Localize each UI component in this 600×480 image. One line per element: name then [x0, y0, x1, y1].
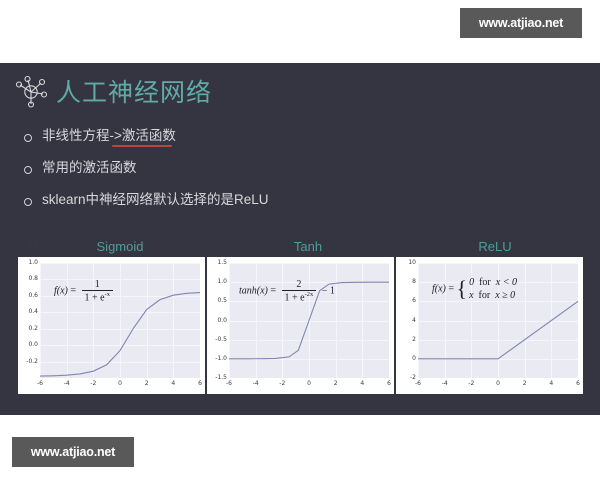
xtick: 2 [334, 381, 338, 387]
slide-body: 人工神经网络 非线性方程->激活函数 常用的激活函数 sklearn中神经网络默… [0, 63, 600, 415]
chart-title-relu: ReLU [435, 240, 555, 253]
ytick: 1.5 [217, 260, 227, 266]
ytick: 2 [412, 337, 416, 343]
ytick: 6 [412, 298, 416, 304]
chart-panel-sigmoid: -0.2 0.0 0.2 0.4 0.6 0.8 1.0 1.2 -6 -4 -… [18, 257, 205, 394]
watermark-top: www.atjiao.net [460, 8, 582, 38]
slide-title-row: 人工神经网络 [14, 74, 212, 113]
ytick: 1.0 [28, 260, 38, 266]
chart-title-tanh: Tanh [248, 240, 368, 253]
ytick: 8 [412, 279, 416, 285]
xtick: 4 [549, 381, 553, 387]
xtick: 6 [198, 381, 202, 387]
formula-relu: f(x) = { 0 for x < 0 x for x ≥ 0 [432, 277, 517, 301]
chart-strip: -0.2 0.0 0.2 0.4 0.6 0.8 1.0 1.2 -6 -4 -… [18, 257, 583, 394]
ytick: 0.5 [217, 298, 227, 304]
xtick: 6 [387, 381, 391, 387]
bullet-text-3: sklearn中神经网络默认选择的是ReLU [42, 193, 269, 208]
xtick: 0 [496, 381, 500, 387]
left-brace-glyph: { [457, 280, 468, 298]
xtick: -4 [442, 381, 448, 387]
ytick: -1.0 [215, 356, 227, 362]
ytick: -0.5 [215, 337, 227, 343]
xtick: -4 [64, 381, 70, 387]
plot-area-tanh: -1.5 -1.0 -0.5 0.0 0.5 1.0 1.5 -6 -4 -2 … [229, 263, 389, 378]
molecule-network-icon [14, 74, 48, 113]
ytick: 0.8 [28, 276, 38, 282]
list-item: 常用的激活函数 [24, 161, 269, 176]
watermark-bottom: www.atjiao.net [12, 437, 134, 467]
chart-title-sigmoid: Sigmoid [60, 240, 180, 253]
list-item: sklearn中神经网络默认选择的是ReLU [24, 193, 269, 208]
xtick: 2 [145, 381, 149, 387]
bullet-text-2: 常用的激活函数 [42, 161, 137, 176]
xtick: -2 [279, 381, 285, 387]
bullet-marker-icon [24, 166, 32, 174]
xtick: 6 [576, 381, 580, 387]
red-underline-annotation [112, 145, 172, 147]
ytick: 0.2 [28, 326, 38, 332]
list-item: 非线性方程->激活函数 [24, 129, 269, 144]
ytick: -0.2 [26, 359, 38, 365]
xtick: 0 [307, 381, 311, 387]
xtick: -6 [37, 381, 43, 387]
ytick: 0.4 [28, 309, 38, 315]
xtick: 4 [171, 381, 175, 387]
ytick: 1.2 [28, 244, 38, 250]
ytick: 0.6 [28, 293, 38, 299]
bullet-marker-icon [24, 134, 32, 142]
chart-panel-tanh: -1.5 -1.0 -0.5 0.0 0.5 1.0 1.5 -6 -4 -2 … [207, 257, 394, 394]
xtick: -4 [253, 381, 259, 387]
formula-sigmoid: f(x) = 1 1 + e-x [54, 279, 116, 303]
ytick: 1.0 [217, 279, 227, 285]
xtick: 2 [523, 381, 527, 387]
ytick: 0.0 [28, 342, 38, 348]
chart-panel-relu: -2 0 2 4 6 8 10 -6 -4 -2 0 2 4 6 f(x) = … [396, 257, 583, 394]
xtick: 0 [118, 381, 122, 387]
formula-tanh: tanh(x) = 2 1 + e-2x − 1 [239, 279, 335, 303]
xtick: -6 [415, 381, 421, 387]
xtick: -6 [226, 381, 232, 387]
ytick: 10 [408, 260, 416, 266]
xtick: -2 [90, 381, 96, 387]
ytick: 0 [412, 356, 416, 362]
bullet-list: 非线性方程->激活函数 常用的激活函数 sklearn中神经网络默认选择的是Re… [24, 129, 269, 208]
plot-area-relu: -2 0 2 4 6 8 10 -6 -4 -2 0 2 4 6 f(x) = … [418, 263, 578, 378]
bullet-marker-icon [24, 198, 32, 206]
ytick: 4 [412, 318, 416, 324]
xtick: 4 [360, 381, 364, 387]
page-title: 人工神经网络 [56, 81, 212, 106]
ytick: 0.0 [217, 318, 227, 324]
plot-area-sigmoid: -0.2 0.0 0.2 0.4 0.6 0.8 1.0 1.2 -6 -4 -… [40, 263, 200, 378]
bullet-text-1: 非线性方程->激活函数 [42, 129, 176, 144]
xtick: -2 [468, 381, 474, 387]
